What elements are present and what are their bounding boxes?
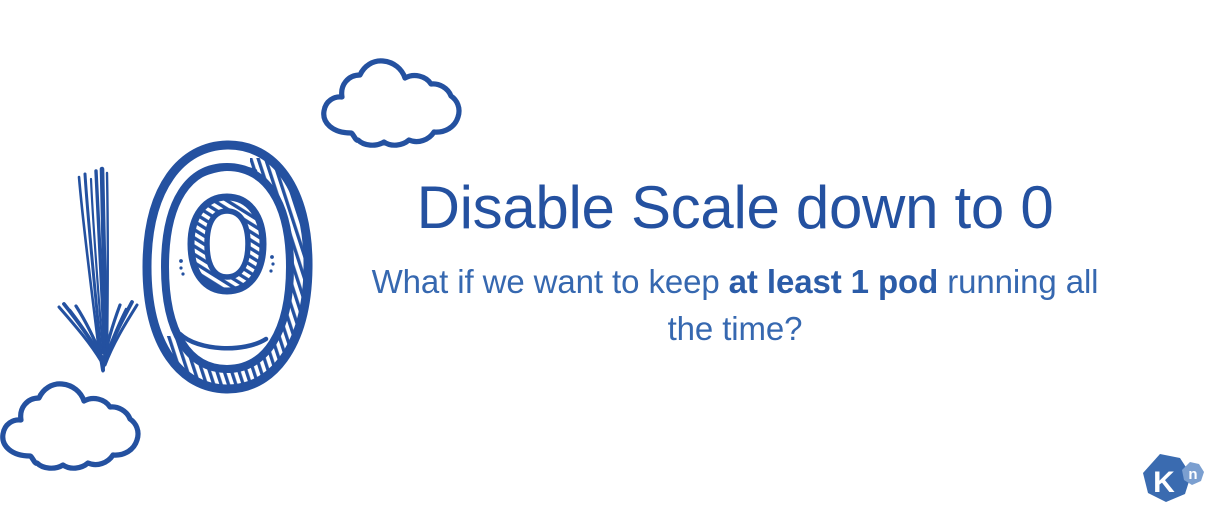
logo-letter-k: K (1153, 466, 1175, 499)
page-subtitle: What if we want to keep at least 1 pod r… (370, 259, 1100, 353)
cloud-outline-icon (315, 55, 465, 150)
sketch-arrow-down-icon (55, 165, 155, 380)
slide-canvas: Disable Scale down to 0 What if we want … (0, 0, 1212, 525)
page-title: Disable Scale down to 0 (370, 176, 1100, 241)
subtitle-lead: What if we want to keep (372, 263, 729, 300)
subtitle-emphasis: at least 1 pod (729, 263, 939, 300)
sketch-zero-illustration (140, 140, 315, 395)
knative-logo: K n (1134, 448, 1206, 514)
cloud-outline-icon (0, 378, 144, 473)
text-block: Disable Scale down to 0 What if we want … (370, 176, 1100, 353)
logo-letter-n: n (1188, 466, 1197, 483)
